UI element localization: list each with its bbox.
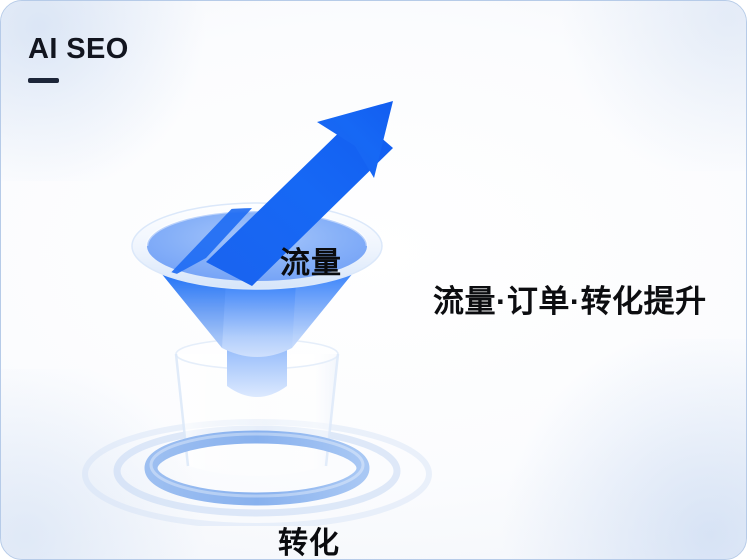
marketing-funnel-illustration: 流量 转化 — [56, 86, 476, 526]
funnel-label-traffic: 流量 — [280, 238, 342, 282]
page-title: AI SEO — [28, 35, 129, 64]
funnel-label-conversion: 转化 — [278, 518, 340, 560]
background-tint-top-right — [546, 0, 747, 171]
accent-rule — [28, 78, 59, 83]
poster-canvas: AI SEO 流量·订单·转化提升 — [0, 0, 747, 560]
header: AI SEO — [28, 35, 129, 83]
background-tint-bottom-right — [486, 339, 747, 560]
